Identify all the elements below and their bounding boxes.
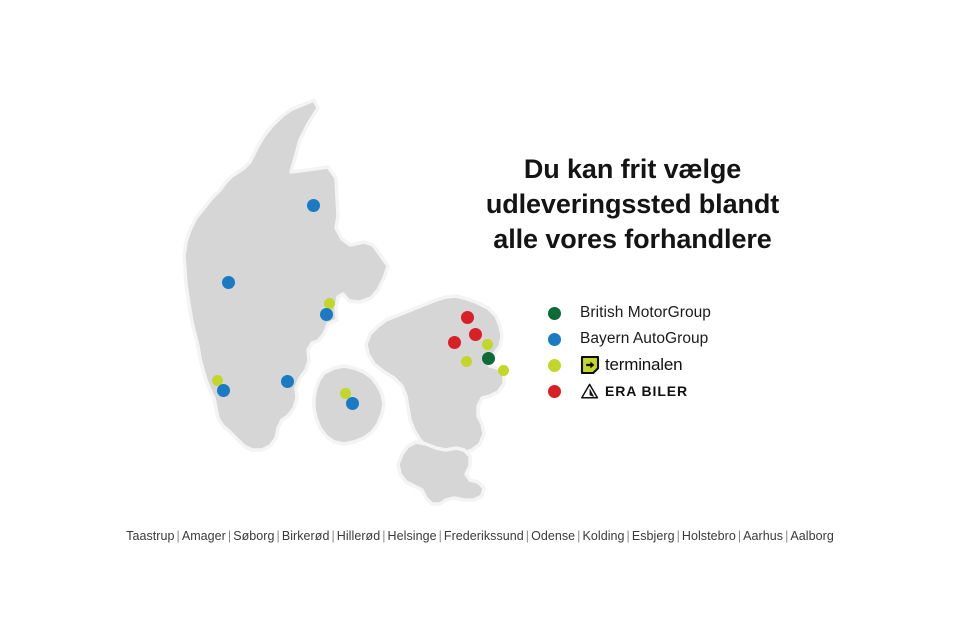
city-name: Holstebro — [682, 529, 736, 543]
city-name: Taastrup — [126, 529, 174, 543]
map-dot-aarhus-terminalen — [324, 298, 335, 309]
map-dot-aarhus-bayern — [320, 308, 333, 321]
city-separator: | — [437, 529, 444, 543]
legend-item-era-biler: ERA BILER — [548, 378, 838, 404]
legend-item-label: terminalen — [605, 356, 682, 374]
map-dot-birkerod-terminalen — [482, 339, 493, 350]
legend-item-label: British MotorGroup — [580, 304, 711, 322]
city-separator: | — [329, 529, 336, 543]
map-dot-kolding-bayern — [281, 375, 294, 388]
legend-item-label: ERA BILER — [605, 383, 688, 399]
circle-swatch-icon — [548, 385, 561, 398]
city-separator: | — [625, 529, 632, 543]
circle-swatch-icon — [548, 307, 561, 320]
legend-item-label: Bayern AutoGroup — [580, 330, 708, 348]
city-name: Hillerød — [337, 529, 380, 543]
city-name: Aalborg — [790, 529, 833, 543]
city-name: Frederikssund — [444, 529, 524, 543]
city-name: Birkerød — [282, 529, 330, 543]
city-separator: | — [380, 529, 387, 543]
terminalen-logo: terminalen — [580, 355, 682, 375]
map-dot-taastrup-british — [482, 352, 495, 365]
dealer-legend: British MotorGroup Bayern AutoGroup term… — [548, 300, 838, 404]
era-biler-logo: ERA BILER — [580, 383, 688, 400]
map-dot-frederikssund-era — [448, 336, 461, 349]
city-name: Amager — [182, 529, 226, 543]
map-dot-soborg-terminalen — [461, 356, 472, 367]
headline-line-2: udleveringssted blandt — [455, 187, 810, 222]
city-name: Helsinge — [388, 529, 437, 543]
map-dot-esbjerg-bayern — [217, 384, 230, 397]
city-separator: | — [275, 529, 282, 543]
map-dot-aalborg — [307, 199, 320, 212]
terminalen-arrow-icon — [580, 355, 600, 375]
headline-line-1: Du kan frit vælge — [455, 152, 810, 187]
era-biler-triangle-icon — [580, 383, 599, 400]
map-dot-holstebro — [222, 276, 235, 289]
city-list: Taastrup|Amager|Søborg|Birkerød|Hillerød… — [0, 528, 960, 544]
map-dot-amager-terminalen — [498, 365, 509, 376]
city-name: Esbjerg — [632, 529, 675, 543]
city-separator: | — [675, 529, 682, 543]
map-dot-hillerod-era — [469, 328, 482, 341]
poster-canvas: Du kan frit vælge udleveringssted blandt… — [0, 0, 960, 640]
headline-line-3: alle vores forhandlere — [455, 222, 810, 257]
circle-swatch-icon — [548, 333, 561, 346]
legend-item-bayern-autogroup: Bayern AutoGroup — [548, 326, 838, 352]
city-separator: | — [175, 529, 182, 543]
city-name: Aarhus — [743, 529, 783, 543]
circle-swatch-icon — [548, 359, 561, 372]
city-name: Odense — [531, 529, 575, 543]
city-name: Søborg — [233, 529, 274, 543]
map-dot-helsinge-era — [461, 311, 474, 324]
page-title: Du kan frit vælge udleveringssted blandt… — [455, 152, 810, 257]
city-name: Kolding — [582, 529, 624, 543]
map-dot-odense-bayern — [346, 397, 359, 410]
legend-item-terminalen: terminalen — [548, 352, 838, 378]
legend-item-british-motorgroup: British MotorGroup — [548, 300, 838, 326]
city-separator: | — [524, 529, 531, 543]
